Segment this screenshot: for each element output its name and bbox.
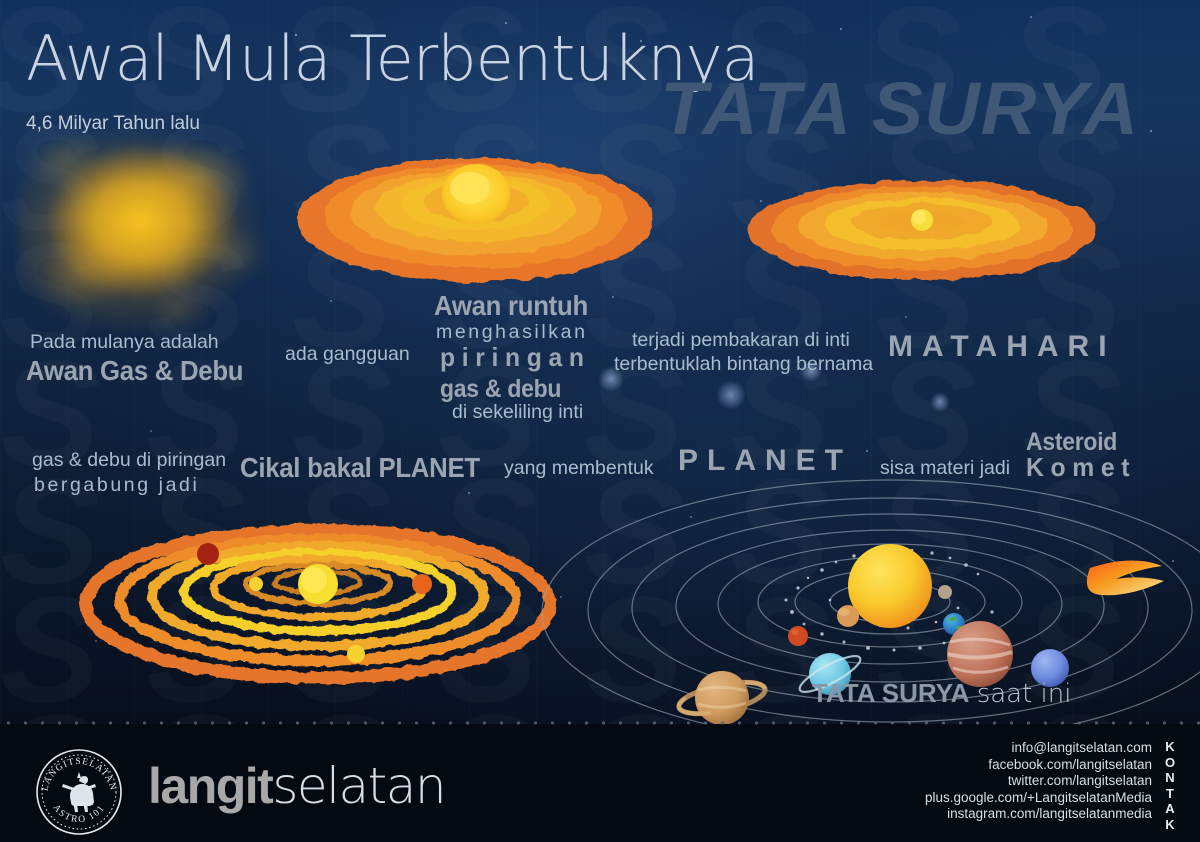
solar-system-caption-bold: TATA SURYA (812, 678, 969, 708)
step2-label: ada gangguan (285, 342, 410, 367)
step4-line2: terbentuklah bintang bernama (614, 352, 873, 377)
step4-line1: terjadi pembakaran di inti (632, 328, 850, 353)
comet (1087, 560, 1164, 595)
step7-cikal-bakal-planet: Cikal bakal PLANET (240, 452, 480, 484)
solar-system-caption: TATA SURYA saat ini (812, 678, 1071, 709)
logo-bottom-text: ASTRO 101 (51, 803, 108, 825)
step6-line2: bergabung jadi (34, 473, 199, 498)
infographic-canvas: SSSSSSSSSSSSSSSSSSSSSSSSSSSSSSSSSSSSSSSS… (0, 0, 1200, 842)
contact-facebook[interactable]: facebook.com/langitselatan (925, 757, 1152, 774)
brand-bold: langit (148, 758, 272, 814)
step3-line1: Awan runtuh (434, 290, 588, 322)
step8-label: yang membentuk (504, 456, 654, 481)
planet-mercury (938, 585, 952, 599)
solar-system-caption-light: saat ini (977, 679, 1072, 709)
langitselatan-logo[interactable]: LANGITSELATAN ASTRO 101 (33, 746, 125, 838)
logo-centaur-figure (62, 772, 96, 812)
contact-twitter[interactable]: twitter.com/langitselatan (925, 773, 1152, 790)
step9-planet: PLANET (678, 444, 852, 478)
brand-light: selatan (272, 757, 445, 815)
contact-googleplus[interactable]: plus.google.com/+LangitselatanMedia (925, 790, 1152, 807)
footer-divider (0, 721, 1200, 725)
svg-text:ASTRO 101: ASTRO 101 (51, 803, 108, 825)
step1-line1: Pada mulanya adalah (30, 330, 219, 355)
protoplanetary-disk-illustration (296, 142, 656, 292)
step5-matahari: MATAHARI (888, 330, 1116, 364)
contact-instagram[interactable]: instagram.com/langitselatanmedia (925, 806, 1152, 823)
planet-venus (837, 605, 859, 627)
step3-line3: piringan (440, 342, 591, 373)
step10-label: sisa materi jadi (880, 456, 1010, 481)
step6-line1: gas & debu di piringan (32, 448, 226, 473)
page-title-accent: TATA SURYA (660, 66, 1139, 151)
page-title: Awal Mula Terbentuknya (26, 22, 759, 95)
step3-line5: di sekeliling inti (452, 400, 583, 425)
kontak-label: KONTAK (1160, 739, 1180, 832)
planet-mars (788, 626, 808, 646)
subtitle-age: 4,6 Milyar Tahun lalu (26, 113, 200, 135)
nebula-gas-cloud (18, 118, 274, 333)
protoplanet-rings-illustration (82, 512, 560, 690)
planet-sun (848, 544, 932, 628)
step1-line2: Awan Gas & Debu (26, 355, 243, 387)
brand-wordmark: langitselatan (148, 757, 445, 815)
contact-email[interactable]: info@langitselatan.com (925, 740, 1152, 757)
contact-list: info@langitselatan.com facebook.com/lang… (925, 740, 1152, 823)
step11-line2: Komet (1026, 452, 1136, 483)
star-formation-disk-illustration (746, 172, 1098, 290)
